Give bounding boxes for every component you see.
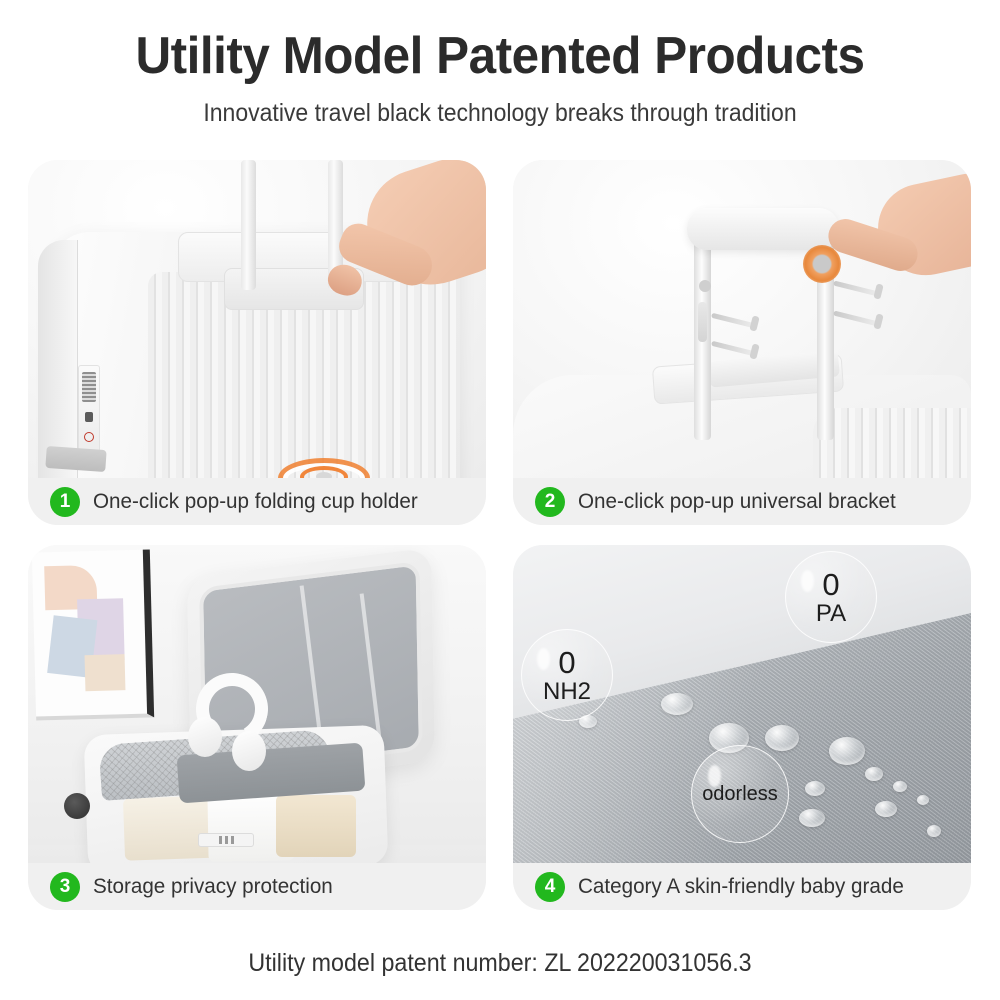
scene-cup-holder xyxy=(28,160,486,478)
hand-pressing-release xyxy=(843,180,971,310)
caption-bar-1: 1 One-click pop-up folding cup holder xyxy=(28,478,486,525)
feature-card-4[interactable]: 0 PA 0 NH2 odorless 4 Category A skin-fr… xyxy=(513,545,971,910)
badge-unit: NH2 xyxy=(543,680,591,704)
badge-value: 0 xyxy=(558,647,575,678)
water-droplet xyxy=(829,737,865,765)
art-shape-4 xyxy=(85,654,126,691)
badge-bubble-odorless: odorless xyxy=(691,745,789,843)
scene-storage-privacy xyxy=(28,545,486,863)
suitcase-side-edge xyxy=(38,240,78,478)
lock-dial xyxy=(231,836,234,844)
release-button-ring-icon[interactable] xyxy=(803,245,841,283)
badge-value: 0 xyxy=(822,569,839,600)
water-droplet xyxy=(765,725,799,751)
suitcase-wheel xyxy=(64,793,90,819)
page-subtitle: Innovative travel black technology break… xyxy=(40,99,960,128)
water-droplet xyxy=(917,795,929,805)
badge-unit: PA xyxy=(816,602,846,626)
caption-bar-3: 3 Storage privacy protection xyxy=(28,863,486,910)
suitcase-ribbed-surface xyxy=(813,408,971,478)
caption-bar-2: 2 One-click pop-up universal bracket xyxy=(513,478,971,525)
feature-card-2[interactable]: 2 One-click pop-up universal bracket xyxy=(513,160,971,525)
art-frame xyxy=(32,549,154,720)
caption-bar-4: 4 Category A skin-friendly baby grade xyxy=(513,863,971,910)
handle-grip xyxy=(687,208,839,250)
step-badge-1: 1 xyxy=(50,487,80,517)
tsa-mark-icon xyxy=(84,432,94,442)
badge-label: odorless xyxy=(702,784,778,804)
water-droplet xyxy=(661,693,693,715)
water-droplet xyxy=(799,809,825,827)
caption-text-4: Category A skin-friendly baby grade xyxy=(578,874,904,899)
lock-dial xyxy=(225,836,228,844)
badge-bubble-nh2: 0 NH2 xyxy=(521,629,613,721)
badge-bubble-pa: 0 PA xyxy=(785,551,877,643)
page-title: Utility Model Patented Products xyxy=(25,28,975,85)
water-droplet xyxy=(875,801,897,817)
water-droplet xyxy=(893,781,907,792)
scene-universal-bracket xyxy=(513,160,971,478)
caption-text-1: One-click pop-up folding cup holder xyxy=(93,489,418,514)
patent-number-footer: Utility model patent number: ZL 20222003… xyxy=(35,949,965,978)
handle-dot-detail xyxy=(699,280,711,292)
suitcase-wheel-bar xyxy=(45,446,106,472)
headphone-earcup-right xyxy=(232,731,266,771)
feature-card-3[interactable]: 3 Storage privacy protection xyxy=(28,545,486,910)
handle-post-left xyxy=(241,160,256,290)
folded-clothes-3 xyxy=(276,795,356,857)
headphone-earcup-left xyxy=(188,717,222,757)
lock-dials xyxy=(82,372,96,402)
hand-pressing-button xyxy=(328,165,486,365)
water-droplet xyxy=(865,767,883,781)
feature-grid: 1 One-click pop-up folding cup holder xyxy=(28,160,972,910)
water-droplet xyxy=(805,781,825,796)
step-badge-2: 2 xyxy=(535,487,565,517)
water-droplet xyxy=(927,825,941,837)
step-badge-4: 4 xyxy=(535,872,565,902)
infographic-page: Utility Model Patented Products Innovati… xyxy=(0,0,1000,1000)
caption-text-2: One-click pop-up universal bracket xyxy=(578,489,896,514)
caption-text-3: Storage privacy protection xyxy=(93,874,333,899)
step-badge-3: 3 xyxy=(50,872,80,902)
header: Utility Model Patented Products Innovati… xyxy=(0,0,1000,128)
tsa-lock-strip xyxy=(198,833,254,847)
feature-card-1[interactable]: 1 One-click pop-up folding cup holder xyxy=(28,160,486,525)
lock-button xyxy=(85,412,93,422)
handle-slot xyxy=(698,302,707,342)
lock-dial xyxy=(219,836,222,844)
scene-waterproof-fabric: 0 PA 0 NH2 odorless xyxy=(513,545,971,863)
